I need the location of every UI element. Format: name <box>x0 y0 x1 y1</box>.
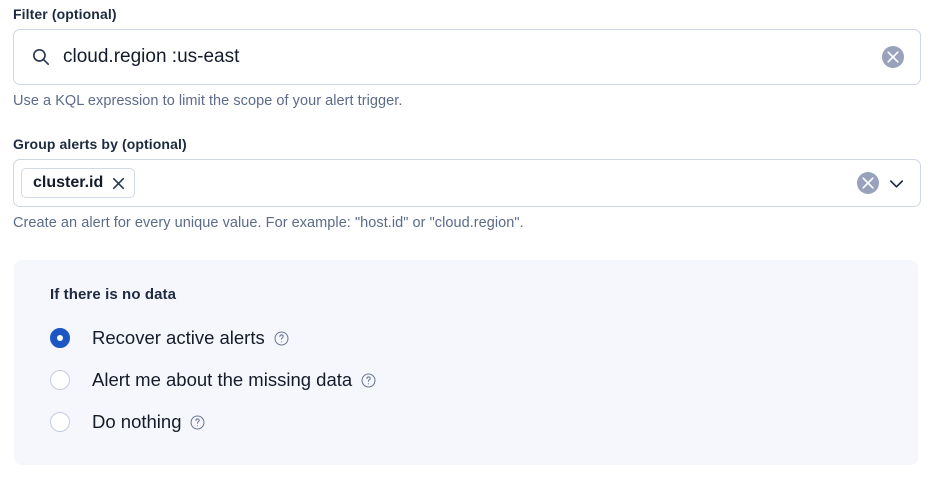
radio-button[interactable] <box>50 412 70 432</box>
filter-help-text: Use a KQL expression to limit the scope … <box>13 92 932 110</box>
no-data-panel: If there is no data Recover active alert… <box>14 260 918 465</box>
radio-label: Do nothing <box>92 411 181 433</box>
field-pill-label: cluster.id <box>33 174 103 192</box>
filter-input-wrapper[interactable]: cloud.region :us-east <box>13 29 921 85</box>
question-in-circle-icon[interactable] <box>190 415 205 430</box>
no-data-panel-wrapper: If there is no data Recover active alert… <box>0 232 932 465</box>
field-pill-cluster-id[interactable]: cluster.id <box>21 168 135 198</box>
radio-label: Recover active alerts <box>92 327 265 349</box>
clear-circle-icon[interactable] <box>857 172 879 194</box>
radio-label: Alert me about the missing data <box>92 369 352 391</box>
radio-button[interactable] <box>50 328 70 348</box>
filter-label: Filter (optional) <box>13 6 932 22</box>
question-in-circle-icon[interactable] <box>361 373 376 388</box>
search-icon <box>31 47 51 67</box>
question-in-circle-icon[interactable] <box>274 331 289 346</box>
group-alerts-help-text: Create an alert for every unique value. … <box>13 214 932 232</box>
radio-button[interactable] <box>50 370 70 390</box>
filter-section: Filter (optional) cloud.region :us-east … <box>0 0 932 110</box>
group-alerts-section: Group alerts by (optional) cluster.id <box>0 110 932 232</box>
radio-option-alert-missing-data[interactable]: Alert me about the missing data <box>14 359 918 401</box>
radio-option-do-nothing[interactable]: Do nothing <box>14 401 918 443</box>
group-alerts-label: Group alerts by (optional) <box>13 136 932 152</box>
no-data-panel-title: If there is no data <box>50 286 918 303</box>
group-alerts-combobox[interactable]: cluster.id <box>13 159 921 207</box>
chevron-down-icon[interactable] <box>887 174 906 193</box>
alert-rule-form: Filter (optional) cloud.region :us-east … <box>0 0 932 501</box>
close-icon[interactable] <box>112 177 125 190</box>
radio-option-recover-active-alerts[interactable]: Recover active alerts <box>14 317 918 359</box>
combobox-actions <box>857 172 906 194</box>
clear-circle-icon[interactable] <box>882 46 904 68</box>
selected-fields-list: cluster.id <box>14 168 857 198</box>
filter-input[interactable]: cloud.region :us-east <box>63 46 882 68</box>
